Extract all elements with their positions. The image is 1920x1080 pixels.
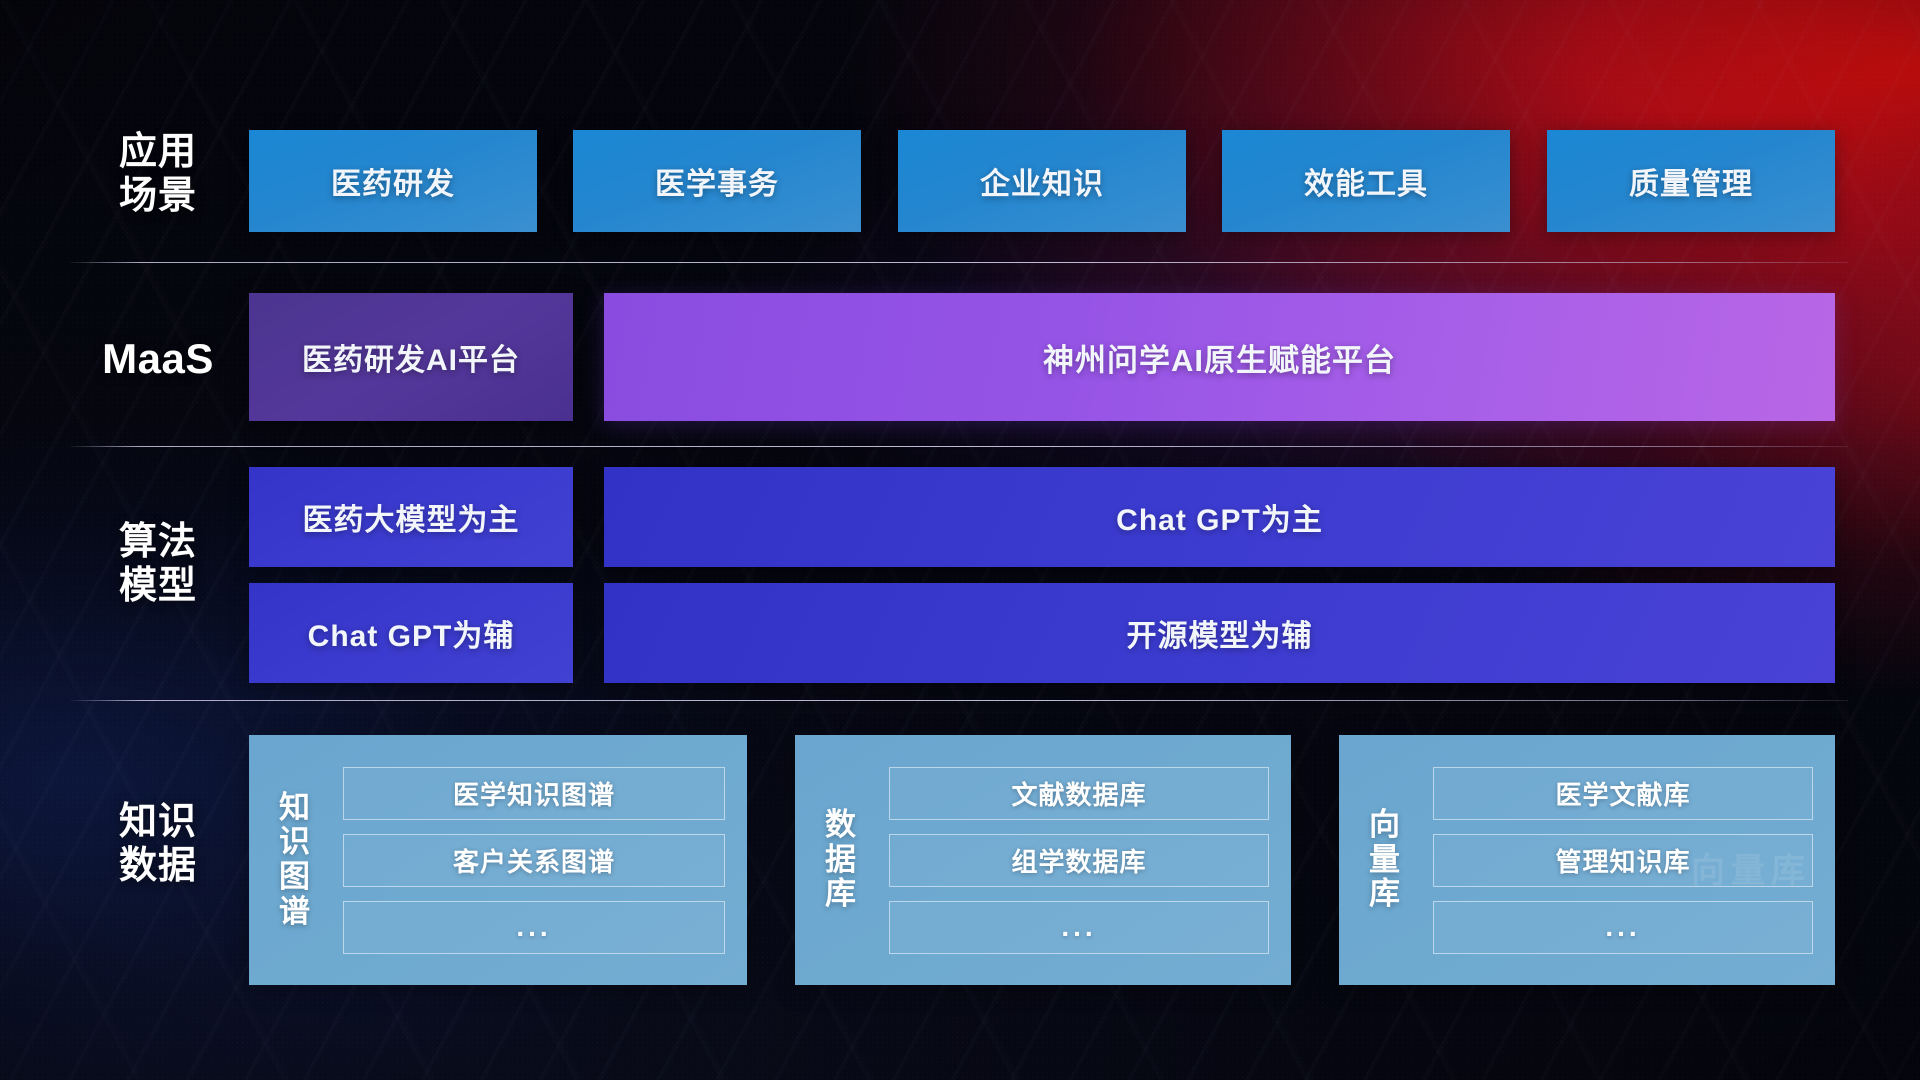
slide-stage: 应用 场景 医药研发 医学事务 企业知识 效能工具 质量管理 MaaS: [0, 0, 1920, 1080]
row-label-line-1: 应用: [78, 130, 238, 174]
vertical-title-char: 向: [1345, 808, 1425, 843]
diagram-content: 应用 场景 医药研发 医学事务 企业知识 效能工具 质量管理 MaaS: [0, 0, 1920, 1080]
vertical-title-char: 库: [1345, 877, 1425, 912]
vertical-title-char: 量: [1345, 843, 1425, 878]
row-label-algorithm-models: 算法 模型: [78, 520, 238, 608]
maas-enablement-platform-box[interactable]: 神州问学AI原生赋能平台: [604, 293, 1835, 421]
vertical-title-char: 知: [255, 791, 335, 826]
knowledge-item-2-3[interactable]: ...: [889, 901, 1269, 954]
knowledge-panel-vector-store[interactable]: 向量库 医学文献库 管理知识库 ... 向量库: [1339, 735, 1835, 985]
vertical-title-char: 识: [255, 825, 335, 860]
divider-algorithm-knowledge: [70, 700, 1848, 701]
row-label-knowledge-line-2: 数据: [78, 844, 238, 888]
app-scenario-label-5: 质量管理: [1629, 159, 1753, 203]
algo-left-box-1[interactable]: 医药大模型为主: [249, 467, 573, 567]
algo-right-box-1[interactable]: Chat GPT为主: [604, 467, 1835, 567]
row-label-application-scenarios: 应用 场景: [78, 130, 238, 218]
algo-right-label-1: Chat GPT为主: [1116, 495, 1323, 539]
knowledge-panel-knowledge-graph[interactable]: 知识图谱 医学知识图谱 客户关系图谱 ...: [249, 735, 747, 985]
knowledge-item-1-3[interactable]: ...: [343, 901, 725, 954]
divider-maas-algorithm: [70, 446, 1848, 447]
vertical-title-char: 数: [801, 808, 881, 843]
algo-right-label-2: 开源模型为辅: [1127, 611, 1313, 655]
app-scenario-label-4: 效能工具: [1304, 159, 1428, 203]
knowledge-panel-title-3: 向量库: [1339, 808, 1425, 912]
algo-left-label-2: Chat GPT为辅: [308, 611, 515, 655]
knowledge-item-3-3[interactable]: ...: [1433, 901, 1813, 954]
knowledge-panel-items-1: 医学知识图谱 客户关系图谱 ...: [335, 767, 747, 954]
knowledge-item-2-2[interactable]: 组学数据库: [889, 834, 1269, 887]
knowledge-panel-items-3: 医学文献库 管理知识库 ...: [1425, 767, 1835, 954]
app-scenario-box-1[interactable]: 医药研发: [249, 130, 537, 232]
row-label-algorithm-line-1: 算法: [78, 520, 238, 564]
knowledge-panel-database[interactable]: 数据库 文献数据库 组学数据库 ...: [795, 735, 1291, 985]
row-label-knowledge-line-1: 知识: [78, 800, 238, 844]
row-label-line-2: 场景: [78, 174, 238, 218]
divider-application-maas: [70, 262, 1848, 263]
knowledge-panel-items-2: 文献数据库 组学数据库 ...: [881, 767, 1291, 954]
vertical-title-char: 图: [255, 860, 335, 895]
maas-platform-label: 医药研发AI平台: [302, 335, 520, 379]
app-scenario-box-2[interactable]: 医学事务: [573, 130, 861, 232]
algo-right-box-2[interactable]: 开源模型为辅: [604, 583, 1835, 683]
knowledge-panel-title-2: 数据库: [795, 808, 881, 912]
knowledge-item-1-2[interactable]: 客户关系图谱: [343, 834, 725, 887]
knowledge-item-3-1[interactable]: 医学文献库: [1433, 767, 1813, 820]
knowledge-item-3-2[interactable]: 管理知识库: [1433, 834, 1813, 887]
algo-left-box-2[interactable]: Chat GPT为辅: [249, 583, 573, 683]
app-scenario-box-3[interactable]: 企业知识: [898, 130, 1186, 232]
vertical-title-char: 谱: [255, 895, 335, 930]
app-scenario-box-5[interactable]: 质量管理: [1547, 130, 1835, 232]
maas-enablement-platform-label: 神州问学AI原生赋能平台: [1043, 335, 1396, 380]
row-label-knowledge-data: 知识 数据: [78, 800, 238, 888]
app-scenario-label-3: 企业知识: [980, 159, 1104, 203]
algo-left-label-1: 医药大模型为主: [303, 495, 520, 539]
maas-platform-box[interactable]: 医药研发AI平台: [249, 293, 573, 421]
vertical-title-char: 库: [801, 877, 881, 912]
knowledge-item-1-1[interactable]: 医学知识图谱: [343, 767, 725, 820]
knowledge-item-2-1[interactable]: 文献数据库: [889, 767, 1269, 820]
row-label-maas: MaaS: [78, 335, 238, 384]
app-scenario-label-1: 医药研发: [331, 159, 455, 203]
knowledge-panel-title-1: 知识图谱: [249, 791, 335, 930]
app-scenario-label-2: 医学事务: [655, 159, 779, 203]
app-scenario-box-4[interactable]: 效能工具: [1222, 130, 1510, 232]
row-label-algorithm-line-2: 模型: [78, 564, 238, 608]
vertical-title-char: 据: [801, 843, 881, 878]
